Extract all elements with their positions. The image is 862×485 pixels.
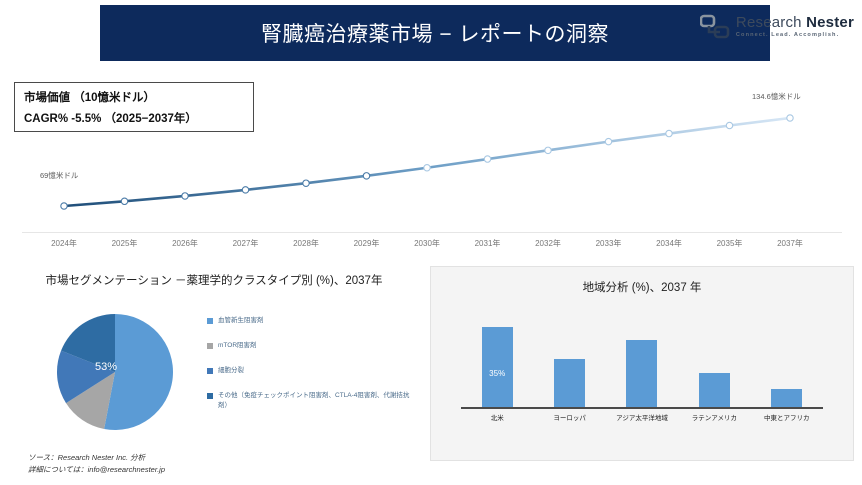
segmentation-title: 市場セグメンテーション －薬理学的クラスタイプ別 (%)、2037年 [10,266,418,290]
year-tick-label: 2031年 [475,238,501,249]
logo-name: Research Nester [736,15,854,30]
bar-column [616,340,668,407]
year-tick-label: 2025年 [112,238,138,249]
bar-column [544,359,596,407]
year-tick-label: 2037年 [777,238,803,249]
bar-category-label: ヨーロッパ [544,412,596,422]
bar-column: 35% [471,327,523,408]
bar [554,359,585,407]
line-data-point [424,165,430,171]
line-data-point [182,193,188,199]
line-data-point [484,156,490,162]
bar-column [688,373,740,408]
year-tick-label: 2033年 [596,238,622,249]
line-data-point [605,138,611,144]
line-data-point [61,203,67,209]
pie-legend-label: その他（免疫チェックポイント阻害剤、CTLA-4阻害剤、代謝拮抗剤） [218,391,412,411]
bar-category-label: アジア太平洋地域 [616,412,668,422]
pie-legend-label: 細胞分裂 [218,366,244,376]
line-data-point [121,198,127,204]
year-tick-label: 2027年 [233,238,259,249]
line-data-point [242,187,248,193]
line-data-point [666,130,672,136]
year-tick-label: 2024年 [51,238,77,249]
bar-chart-axis [461,407,823,409]
bar-category-label: 中東とアフリカ [761,412,813,422]
market-growth-line-chart [0,62,862,252]
year-tick-label: 2032年 [535,238,561,249]
bar-column [761,389,813,407]
year-tick-label: 2035年 [717,238,743,249]
infographic-page: 腎臓癌治療薬市場 − レポートの洞察 Research Nester Conne… [0,0,862,485]
year-tick-label: 2030年 [414,238,440,249]
brand-logo: Research Nester Connect. Lead. Accomplis… [700,14,854,40]
line-start-value-label: 69憶米ドル [40,170,78,181]
pie-legend-label: mTOR阻害剤 [218,341,257,351]
contact-line: 詳細については：info@researchnester.jp [28,464,165,476]
legend-swatch-icon [207,318,213,324]
pie-legend-item: mTOR阻害剤 [207,341,412,351]
pie-legend-item: 血管新生阻害剤 [207,316,412,326]
research-nester-mark-icon [700,14,730,40]
line-end-value-label: 134.6憶米ドル [752,91,801,102]
line-data-point [545,147,551,153]
logo-wordmark: Research Nester Connect. Lead. Accomplis… [736,15,854,39]
pie-legend-label: 血管新生阻害剤 [218,316,264,326]
bar-value-label: 35% [482,369,513,378]
page-title: 腎臓癌治療薬市場 − レポートの洞察 [261,18,609,48]
line-chart-x-axis-labels: 2024年2025年2026年2027年2028年2029年2030年2031年… [0,238,862,254]
pie-legend-item: 細胞分裂 [207,366,412,376]
line-data-point [303,180,309,186]
bar: 35% [482,327,513,408]
pie-largest-slice-value: 53% [95,361,117,373]
year-tick-label: 2034年 [656,238,682,249]
line-chart-svg [0,62,862,252]
line-data-point [787,115,793,121]
line-data-point [726,122,732,128]
source-line: ソース：Research Nester Inc. 分析 [28,452,165,464]
bar-chart-x-axis-labels: 北米ヨーロッパアジア太平洋地域ラテンアメリカ中東とアフリカ [461,412,823,422]
line-data-point [363,173,369,179]
legend-swatch-icon [207,343,213,349]
bar [626,340,657,407]
bar-category-label: 北米 [471,412,523,422]
regional-analysis-title: 地域分析 (%)、2037 年 [431,267,853,295]
bar [699,373,730,408]
year-tick-label: 2029年 [354,238,380,249]
year-tick-label: 2028年 [293,238,319,249]
pie-legend: 血管新生阻害剤mTOR阻害剤細胞分裂その他（免疫チェックポイント阻害剤、CTLA… [207,316,412,426]
year-tick-label: 2026年 [172,238,198,249]
legend-swatch-icon [207,393,213,399]
logo-tagline: Connect. Lead. Accomplish. [736,33,854,39]
line-chart-axis [22,232,842,233]
bar [771,389,802,407]
pie-legend-item: その他（免疫チェックポイント阻害剤、CTLA-4阻害剤、代謝拮抗剤） [207,391,412,411]
segmentation-panel: 市場セグメンテーション －薬理学的クラスタイプ別 (%)、2037年 53% 血… [10,266,418,476]
header-banner: 腎臓癌治療薬市場 − レポートの洞察 [100,5,770,61]
legend-swatch-icon [207,368,213,374]
bar-category-label: ラテンアメリカ [688,412,740,422]
regional-bar-chart: 35% [461,315,823,407]
regional-analysis-panel: 地域分析 (%)、2037 年 35% 北米ヨーロッパアジア太平洋地域ラテンアメ… [430,266,854,461]
source-footer: ソース：Research Nester Inc. 分析 詳細については：info… [28,452,165,475]
